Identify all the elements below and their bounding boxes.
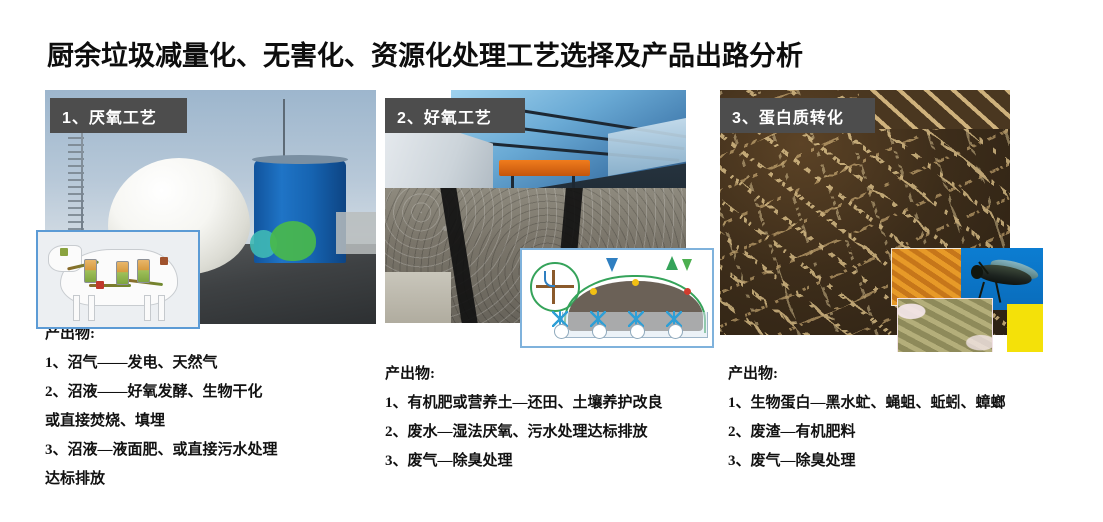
output-line: 3、废气—除臭处理 (385, 453, 663, 469)
sensor-marker-icon (632, 279, 639, 286)
outlet-box-icon (160, 257, 168, 265)
outputs-heading: 产出物: (728, 362, 1006, 383)
fly-leg (995, 281, 1001, 302)
wheel-horizontal-bar (536, 285, 574, 288)
slide-canvas: 厨余垃圾减量化、无害化、资源化处理工艺选择及产品出路分析 1、厌氧工艺 (0, 0, 1103, 522)
reactor-vessel-icon (137, 259, 150, 283)
air-outflow-arrow-secondary-icon (682, 259, 692, 271)
outputs-column-protein: 产出物: 1、生物蛋白—黑水虻、蝇蛆、蚯蚓、蟑螂 2、废渣—有机肥料 3、废气—… (728, 362, 1006, 482)
air-outflow-arrow-icon (666, 256, 678, 270)
reactor-vessel-icon (116, 261, 129, 285)
inlet-box-icon (60, 248, 68, 256)
output-line: 2、废渣—有机肥料 (728, 424, 1006, 440)
fly-leg (978, 281, 985, 299)
antenna-mast-icon (81, 113, 83, 244)
output-line: 1、生物蛋白—黑水虻、蝇蛆、蚯蚓、蟑螂 (728, 395, 1006, 411)
output-line: 或直接焚烧、填埋 (45, 413, 278, 429)
caption-anaerobic: 1、厌氧工艺 (50, 98, 187, 133)
output-line: 3、废气—除臭处理 (728, 453, 1006, 469)
concrete-floor (385, 272, 451, 323)
background-building (336, 212, 376, 254)
output-line: 达标排放 (45, 471, 278, 487)
inset-cow-digestion-diagram (36, 230, 200, 329)
outputs-heading: 产出物: (385, 362, 663, 383)
cow-leg (73, 295, 80, 322)
compost-turner-machine (499, 160, 589, 176)
gas-inflow-arrow-icon (606, 258, 618, 272)
page-title: 厨余垃圾减量化、无害化、资源化处理工艺选择及产品出路分析 (47, 34, 803, 73)
heater-box-icon (96, 281, 104, 289)
reactor-vessel-icon (84, 259, 97, 283)
tank-green-accent (270, 221, 316, 261)
alarm-marker-icon (684, 288, 691, 295)
outputs-column-aerobic: 产出物: 1、有机肥或营养土—还田、土壤养护改良 2、废水—湿法厌氧、污水处理达… (385, 362, 663, 482)
output-line: 2、沼液——好氧发酵、生物干化 (45, 384, 278, 400)
output-line: 1、有机肥或营养土—还田、土壤养护改良 (385, 395, 663, 411)
output-line: 2、废水—湿法厌氧、污水处理达标排放 (385, 424, 663, 440)
larvae-top-band (859, 90, 1010, 129)
caption-aerobic: 2、好氧工艺 (385, 98, 525, 133)
cow-leg (144, 295, 151, 322)
inset-insect-collage (891, 248, 1043, 352)
larvae-closeup-photo-cell (897, 298, 993, 352)
hook-arrow-icon (544, 271, 555, 287)
output-line: 3、沼液—液面肥、或直接污水处理 (45, 442, 278, 458)
inset-aerobic-membrane-diagram (520, 248, 714, 348)
yellow-color-block (1007, 304, 1043, 352)
cow-leg (88, 295, 95, 322)
caption-protein: 3、蛋白质转化 (720, 98, 875, 133)
output-line: 1、沼气——发电、天然气 (45, 355, 278, 371)
cow-leg (158, 295, 165, 322)
outputs-column-anaerobic: 产出物: 1、沼气——发电、天然气 2、沼液——好氧发酵、生物干化 或直接焚烧、… (45, 322, 278, 500)
